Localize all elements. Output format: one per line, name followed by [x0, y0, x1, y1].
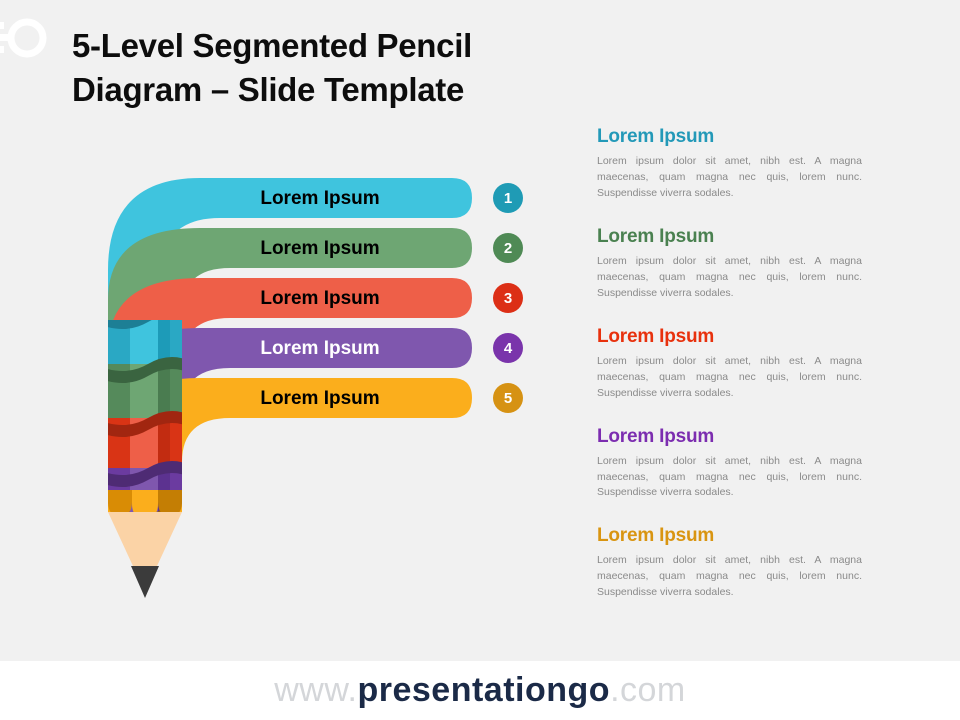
footer-url: www.presentationgo.com: [274, 671, 686, 710]
text-block-body-2: Lorem ipsum dolor sit amet, nibh est. A …: [597, 254, 862, 302]
page-title: 5-Level Segmented Pencil Diagram – Slide…: [72, 24, 592, 112]
text-block-heading-2: Lorem Ipsum: [597, 226, 862, 248]
text-block-heading-4: Lorem Ipsum: [597, 426, 862, 448]
footer-bar: www.presentationgo.com: [0, 661, 960, 720]
text-block-body-3: Lorem ipsum dolor sit amet, nibh est. A …: [597, 354, 862, 402]
text-block-2: Lorem Ipsum Lorem ipsum dolor sit amet, …: [597, 226, 862, 302]
text-block-heading-5: Lorem Ipsum: [597, 525, 862, 547]
ribbon-label-2: Lorem Ipsum: [170, 238, 470, 260]
text-block-heading-1: Lorem Ipsum: [597, 126, 862, 148]
footer-url-suffix: .com: [610, 671, 686, 709]
badge-5[interactable]: 5: [493, 383, 523, 413]
pencil-wood-tip: [108, 512, 182, 598]
slide-canvas: 5-Level Segmented Pencil Diagram – Slide…: [0, 0, 960, 720]
text-block-4: Lorem Ipsum Lorem ipsum dolor sit amet, …: [597, 426, 862, 502]
footer-url-brand: presentationgo: [357, 671, 610, 709]
text-block-body-5: Lorem ipsum dolor sit amet, nibh est. A …: [597, 553, 862, 601]
text-block-body-4: Lorem ipsum dolor sit amet, nibh est. A …: [597, 454, 862, 502]
presentationgo-logo-icon: [0, 14, 56, 62]
text-block-heading-3: Lorem Ipsum: [597, 326, 862, 348]
text-block-body-1: Lorem ipsum dolor sit amet, nibh est. A …: [597, 154, 862, 202]
text-block-5: Lorem Ipsum Lorem ipsum dolor sit amet, …: [597, 525, 862, 601]
ribbon-label-5: Lorem Ipsum: [170, 388, 470, 410]
badge-1[interactable]: 1: [493, 183, 523, 213]
text-block-1: Lorem Ipsum Lorem ipsum dolor sit amet, …: [597, 126, 862, 202]
ribbon-label-4: Lorem Ipsum: [170, 338, 470, 360]
badge-2[interactable]: 2: [493, 233, 523, 263]
badge-3[interactable]: 3: [493, 283, 523, 313]
badge-4[interactable]: 4: [493, 333, 523, 363]
ribbon-label-1: Lorem Ipsum: [170, 188, 470, 210]
ribbon-label-3: Lorem Ipsum: [170, 288, 470, 310]
footer-url-prefix: www.: [274, 671, 357, 709]
text-block-3: Lorem Ipsum Lorem ipsum dolor sit amet, …: [597, 326, 862, 402]
text-column: Lorem Ipsum Lorem ipsum dolor sit amet, …: [597, 126, 862, 601]
